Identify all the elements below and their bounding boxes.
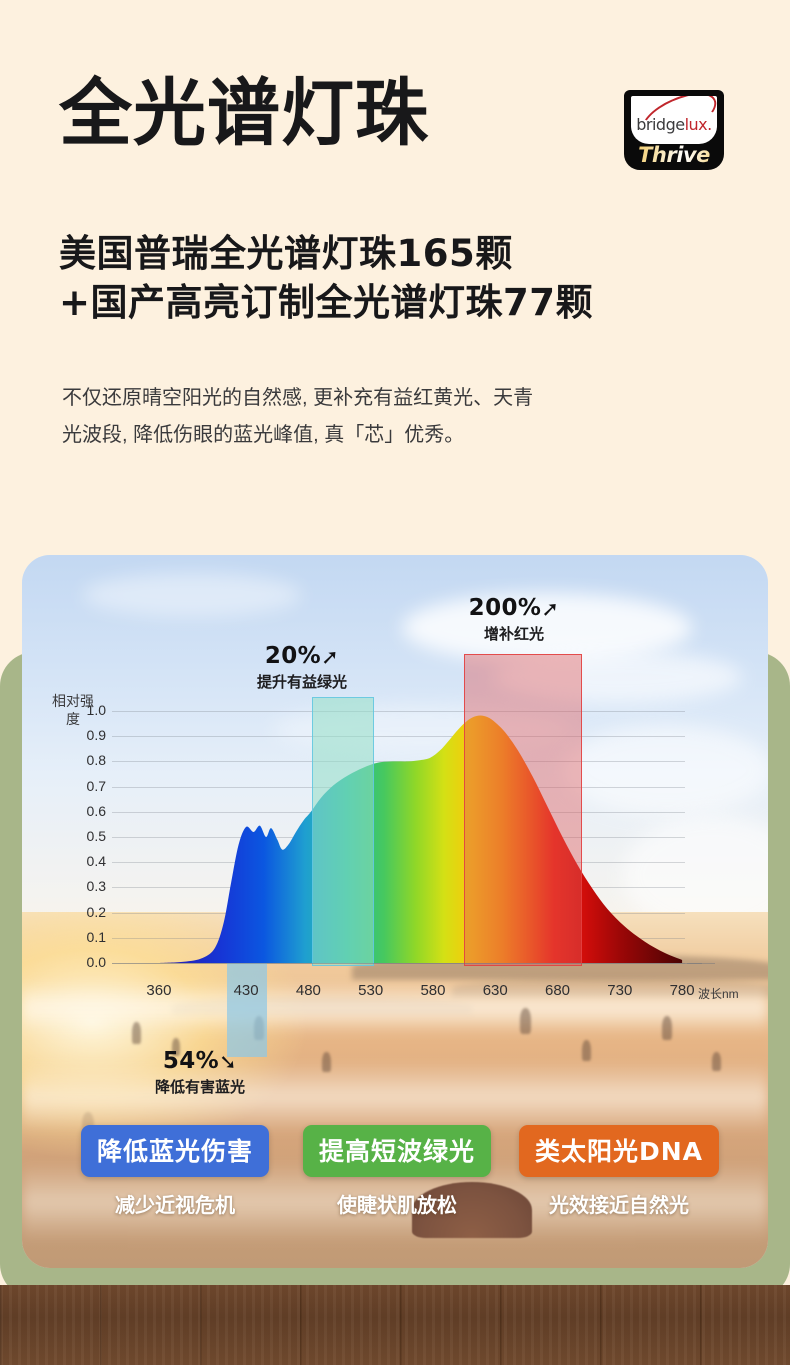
- feature-badge-2: 提高短波绿光 使睫状肌放松: [292, 1125, 502, 1218]
- logo-word-bridge: bridge: [636, 115, 684, 134]
- page-title: 全光谱灯珠: [59, 77, 429, 150]
- subheading-line-1: 美国普瑞全光谱灯珠165颗: [59, 230, 759, 279]
- badge-label-2: 提高短波绿光: [303, 1125, 491, 1177]
- logo-panel: bridgelux.: [631, 96, 717, 144]
- callout-green: 20%➚ 提升有益绿光: [224, 643, 380, 692]
- arrow-down-icon: ➘: [219, 1050, 237, 1074]
- body-copy-line-1: 不仅还原晴空阳光的自然感, 更补充有益红黄光、天青: [62, 380, 722, 417]
- logo-word-lux: lux.: [685, 115, 712, 134]
- callout-blue-value: 54%➘: [122, 1048, 278, 1074]
- x-axis-tick-label: 630: [465, 982, 525, 999]
- subheading-line-2: +国产高亮订制全光谱灯珠77颗: [59, 279, 759, 328]
- callout-blue: 54%➘ 降低有害蓝光: [122, 1048, 278, 1097]
- body-copy: 不仅还原晴空阳光的自然感, 更补充有益红黄光、天青 光波段, 降低伤眼的蓝光峰值…: [62, 380, 722, 454]
- badge-caption-3: 光效接近自然光: [514, 1189, 724, 1218]
- x-axis-title: 波长nm: [698, 985, 739, 1002]
- logo-wordmark: bridgelux.: [631, 115, 717, 134]
- spectrum-chart-card: 相对强度 1.00.90.80.70.60.50.40.30.20.10.0: [22, 555, 768, 1268]
- badge-label-3: 类太阳光DNA: [519, 1125, 719, 1177]
- x-axis-tick-label: 430: [216, 982, 276, 999]
- badge-label-1: 降低蓝光伤害: [81, 1125, 269, 1177]
- callout-red-value: 200%➚: [436, 595, 592, 621]
- callout-blue-caption: 降低有害蓝光: [122, 1076, 278, 1097]
- x-axis-line: [112, 963, 702, 964]
- callout-red-caption: 增补红光: [436, 623, 592, 644]
- x-axis-tick-label: 680: [528, 982, 588, 999]
- highlight-band-green: [312, 697, 374, 966]
- feature-badge-3: 类太阳光DNA 光效接近自然光: [514, 1125, 724, 1218]
- logo-thrive-text: Thrive: [624, 143, 724, 167]
- x-axis-tick-label: 360: [129, 982, 189, 999]
- body-copy-line-2: 光波段, 降低伤眼的蓝光峰值, 真「芯」优秀。: [62, 417, 722, 454]
- highlight-band-red: [464, 654, 582, 966]
- arrow-up-icon: ➚: [321, 645, 339, 669]
- x-axis-tick-label: 730: [590, 982, 650, 999]
- x-axis-tick-label: 580: [403, 982, 463, 999]
- badge-caption-1: 减少近视危机: [70, 1189, 280, 1218]
- x-axis-tick-label: 530: [341, 982, 401, 999]
- x-axis-tail: [687, 963, 715, 964]
- badge-caption-2: 使睫状肌放松: [292, 1189, 502, 1218]
- callout-green-caption: 提升有益绿光: [224, 671, 380, 692]
- arrow-up-icon: ➚: [541, 597, 559, 621]
- wood-floor-backdrop: [0, 1285, 790, 1365]
- x-axis-tick-label: 480: [278, 982, 338, 999]
- subheading: 美国普瑞全光谱灯珠165颗 +国产高亮订制全光谱灯珠77颗: [59, 230, 759, 328]
- callout-red: 200%➚ 增补红光: [436, 595, 592, 644]
- feature-badges: 降低蓝光伤害 减少近视危机 提高短波绿光 使睫状肌放松 类太阳光DNA 光效接近…: [22, 1125, 768, 1225]
- callout-green-value: 20%➚: [224, 643, 380, 669]
- bridgelux-thrive-logo: bridgelux. Thrive: [624, 90, 724, 170]
- feature-badge-1: 降低蓝光伤害 减少近视危机: [70, 1125, 280, 1218]
